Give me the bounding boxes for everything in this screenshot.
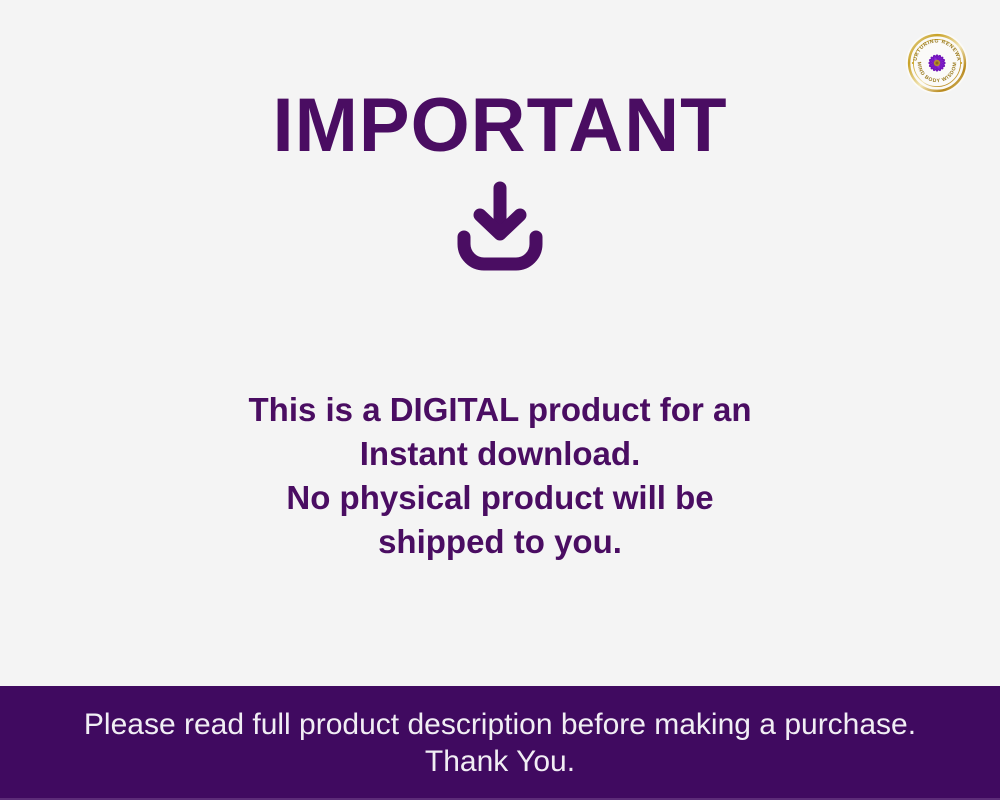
body-line-2: Instant download.: [0, 432, 1000, 476]
body-copy: This is a DIGITAL product for an Instant…: [0, 388, 1000, 564]
footer-line-1: Please read full product description bef…: [0, 706, 1000, 743]
body-line-1: This is a DIGITAL product for an: [0, 388, 1000, 432]
footer-banner: Please read full product description bef…: [0, 686, 1000, 800]
page-title: IMPORTANT: [0, 80, 1000, 172]
body-line-3: No physical product will be: [0, 476, 1000, 520]
notice-card: NURTURING RENEWAL MIND BODY WISDOM: [0, 0, 1000, 800]
body-line-4: shipped to you.: [0, 520, 1000, 564]
download-icon-container: [0, 180, 1000, 277]
footer-line-2: Thank You.: [0, 743, 1000, 780]
download-icon: [456, 180, 544, 272]
footer-text: Please read full product description bef…: [0, 706, 1000, 780]
